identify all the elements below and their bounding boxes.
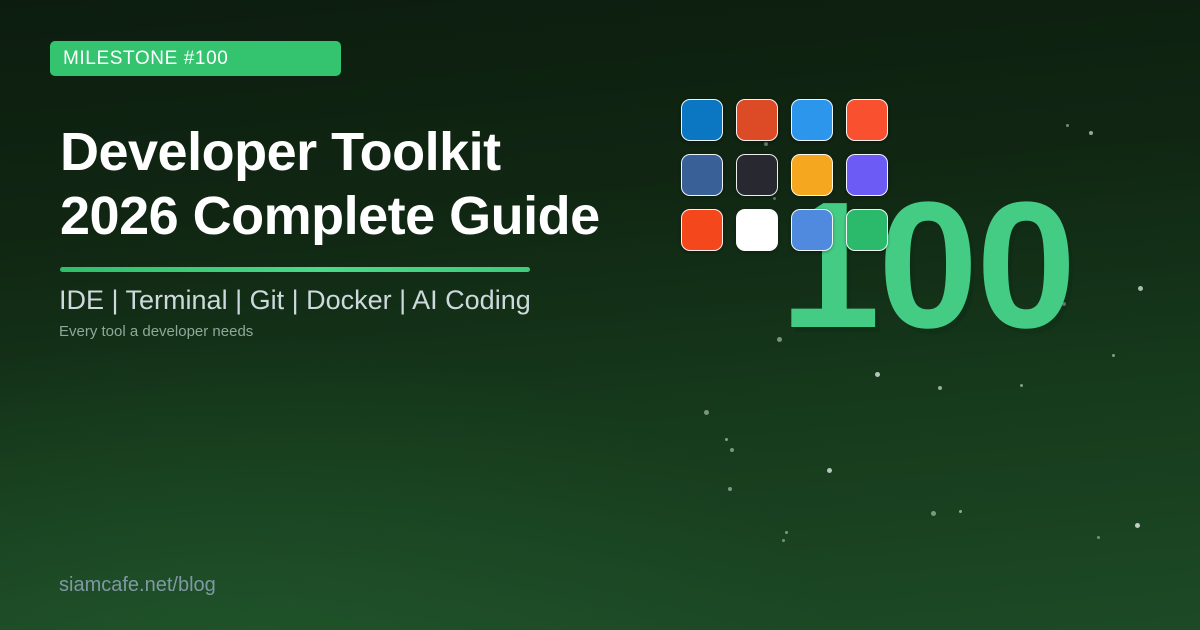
milestone-badge-label: MILESTONE #100 bbox=[63, 49, 228, 68]
particle-dot bbox=[728, 487, 732, 491]
particle-dot bbox=[931, 511, 936, 516]
particle-dot bbox=[785, 531, 788, 534]
particle-dot bbox=[1089, 131, 1093, 135]
particle-dot bbox=[959, 510, 962, 513]
particle-dot bbox=[1138, 286, 1143, 291]
social-card-canvas: MILESTONE #100 Developer Toolkit 2026 Co… bbox=[0, 0, 1200, 630]
particle-dot bbox=[1135, 523, 1140, 528]
tile-azure-blue bbox=[791, 99, 833, 141]
particle-dot bbox=[1020, 384, 1023, 387]
tile-dark-slate bbox=[736, 154, 778, 196]
particle-dot bbox=[1112, 354, 1115, 357]
tile-steel-blue bbox=[681, 154, 723, 196]
page-title: Developer Toolkit 2026 Complete Guide bbox=[60, 120, 680, 248]
tile-emerald bbox=[846, 209, 888, 251]
particle-dot bbox=[875, 372, 880, 377]
particle-dot bbox=[1097, 536, 1100, 539]
footer-url: siamcafe.net/blog bbox=[59, 571, 216, 599]
tile-cornflower bbox=[791, 209, 833, 251]
particle-dot bbox=[827, 468, 832, 473]
page-title-line-1: Developer Toolkit bbox=[60, 120, 680, 184]
tile-git-orange bbox=[736, 99, 778, 141]
particle-dot bbox=[725, 438, 728, 441]
accent-divider bbox=[60, 267, 530, 272]
particle-dot bbox=[782, 539, 785, 542]
subtitle: IDE | Terminal | Git | Docker | AI Codin… bbox=[59, 284, 531, 316]
particle-dot bbox=[730, 448, 734, 452]
particle-dot bbox=[1066, 124, 1069, 127]
milestone-badge: MILESTONE #100 bbox=[50, 41, 341, 76]
tile-red-orange bbox=[846, 99, 888, 141]
tagline: Every tool a developer needs bbox=[59, 322, 253, 342]
tool-tile-grid bbox=[681, 99, 888, 251]
tile-docker-blue bbox=[681, 99, 723, 141]
particle-dot bbox=[704, 410, 709, 415]
tile-vivid-orange bbox=[681, 209, 723, 251]
particle-dot bbox=[938, 386, 942, 390]
tile-white bbox=[736, 209, 778, 251]
tile-amber bbox=[791, 154, 833, 196]
tile-violet bbox=[846, 154, 888, 196]
page-title-line-2: 2026 Complete Guide bbox=[60, 184, 680, 248]
